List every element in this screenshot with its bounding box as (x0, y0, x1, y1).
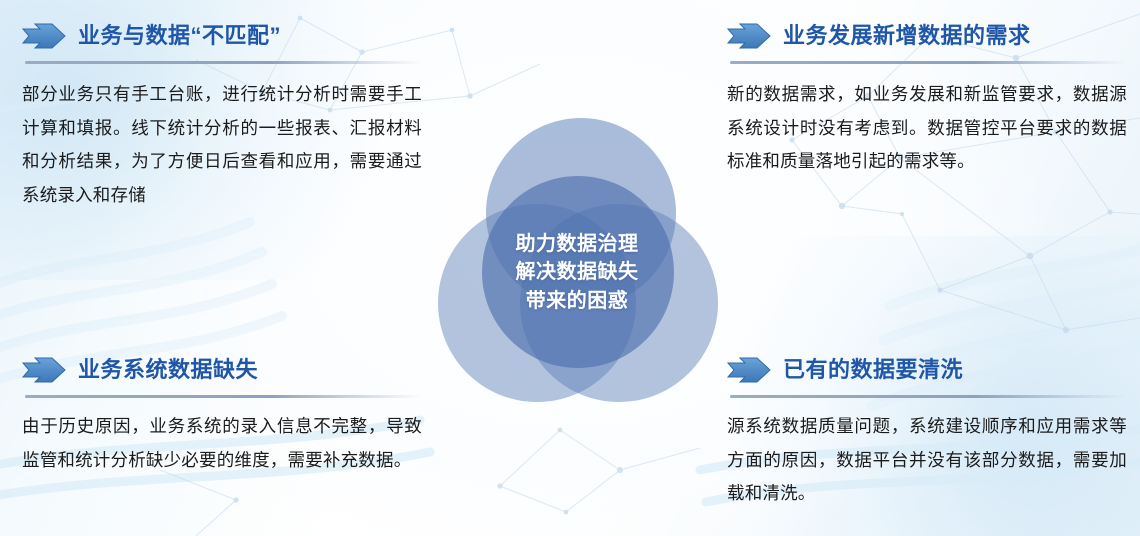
block-new-data-demand: 业务发展新增数据的需求 新的数据需求，如业务发展和新监管要求，数据源系统设计时没… (727, 18, 1127, 179)
center-venn-text: 助力数据治理 解决数据缺失 带来的困惑 (432, 230, 722, 315)
center-line-1: 助力数据治理 (432, 230, 722, 258)
center-line-3: 带来的困惑 (432, 287, 722, 315)
block-existing-data-cleansing: 已有的数据要清洗 源系统数据质量问题，系统建设顺序和应用需求等方面的原因，数据平… (727, 352, 1127, 511)
block-body-text: 部分业务只有手工台账，进行统计分析时需要手工计算和填报。线下统计分析的一些报表、… (22, 78, 422, 212)
block-body-text: 新的数据需求，如业务发展和新监管要求，数据源系统设计时没有考虑到。数据管控平台要… (727, 78, 1127, 179)
block-divider (25, 395, 422, 398)
right-arrow-icon (727, 357, 771, 383)
block-divider (730, 395, 1127, 398)
block-business-system-data-missing: 业务系统数据缺失 由于历史原因，业务系统的录入信息不完整，导致监管和统计分析缺少… (22, 352, 422, 477)
block-title: 业务与数据“不匹配” (78, 25, 281, 47)
block-title: 业务系统数据缺失 (78, 359, 258, 381)
right-arrow-icon (22, 357, 66, 383)
block-header: 业务发展新增数据的需求 (727, 18, 1127, 54)
block-title: 已有的数据要清洗 (783, 359, 963, 381)
block-body-text: 由于历史原因，业务系统的录入信息不完整，导致监管和统计分析缺少必要的维度，需要补… (22, 410, 422, 477)
block-body-text: 源系统数据质量问题，系统建设顺序和应用需求等方面的原因，数据平台并没有该部分数据… (727, 410, 1127, 511)
block-header: 业务与数据“不匹配” (22, 18, 422, 54)
center-venn-diagram: 助力数据治理 解决数据缺失 带来的困惑 (432, 118, 722, 408)
block-header: 业务系统数据缺失 (22, 352, 422, 388)
right-arrow-icon (22, 23, 66, 49)
block-divider (25, 61, 422, 64)
block-business-data-mismatch: 业务与数据“不匹配” 部分业务只有手工台账，进行统计分析时需要手工计算和填报。线… (22, 18, 422, 212)
block-header: 已有的数据要清洗 (727, 352, 1127, 388)
infographic-root: 助力数据治理 解决数据缺失 带来的困惑 业务与数据“不匹配” 部分业务只有手工台… (0, 0, 1140, 536)
center-line-2: 解决数据缺失 (432, 258, 722, 286)
right-arrow-icon (727, 23, 771, 49)
block-title: 业务发展新增数据的需求 (783, 25, 1031, 47)
block-divider (730, 61, 1127, 64)
